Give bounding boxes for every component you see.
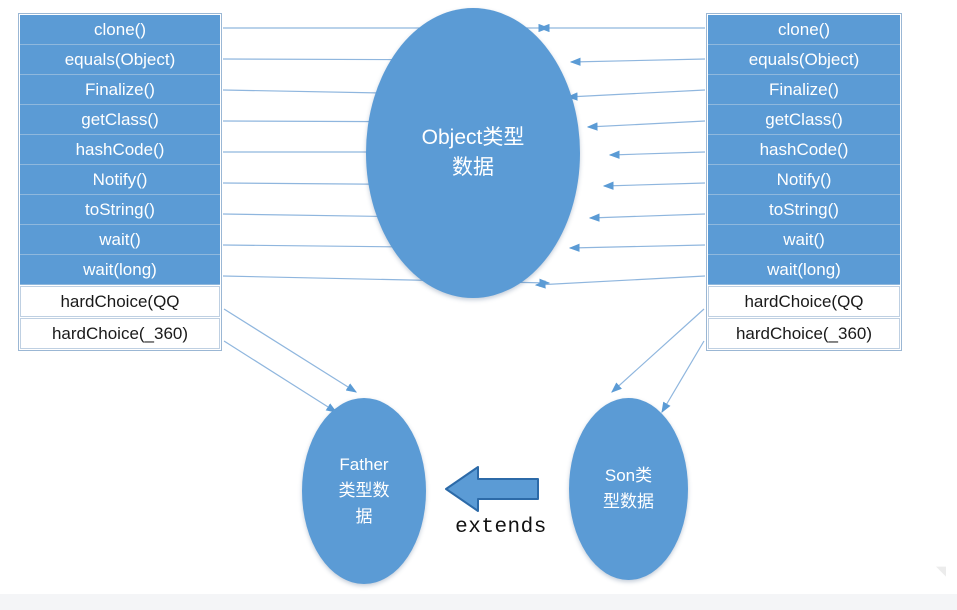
node-father-label-line3: 据 xyxy=(356,504,373,530)
method-row[interactable]: Finalize() xyxy=(20,75,220,105)
bottom-band xyxy=(0,594,957,610)
node-son-label-line1: Son类 xyxy=(605,463,652,489)
node-object-label-line2: 数据 xyxy=(452,153,494,183)
method-row[interactable]: clone() xyxy=(708,15,900,45)
method-row[interactable]: hardChoice(_360) xyxy=(20,318,220,349)
method-row[interactable]: equals(Object) xyxy=(708,45,900,75)
method-row[interactable]: equals(Object) xyxy=(20,45,220,75)
right-method-table: clone() equals(Object) Finalize() getCla… xyxy=(706,13,902,351)
method-row[interactable]: clone() xyxy=(20,15,220,45)
left-method-table: clone() equals(Object) Finalize() getCla… xyxy=(18,13,222,351)
node-object-label-line1: Object类型 xyxy=(422,123,525,153)
method-row[interactable]: hashCode() xyxy=(20,135,220,165)
node-son-label-line2: 型数据 xyxy=(603,489,654,515)
node-son-ellipse[interactable]: Son类 型数据 xyxy=(569,398,688,580)
diagram-canvas: clone() equals(Object) Finalize() getCla… xyxy=(0,0,957,610)
method-row[interactable]: hashCode() xyxy=(708,135,900,165)
node-father-ellipse[interactable]: Father 类型数 据 xyxy=(302,398,426,584)
method-row[interactable]: wait() xyxy=(20,225,220,255)
method-row[interactable]: wait() xyxy=(708,225,900,255)
method-row[interactable]: wait(long) xyxy=(708,255,900,285)
method-row[interactable]: hardChoice(QQ xyxy=(708,286,900,317)
method-row[interactable]: Finalize() xyxy=(708,75,900,105)
method-row[interactable]: hardChoice(QQ xyxy=(20,286,220,317)
method-row[interactable]: getClass() xyxy=(20,105,220,135)
node-father-label-line2: 类型数 xyxy=(339,478,390,504)
cursor-artifact: ◥ xyxy=(936,562,946,580)
method-row[interactable]: toString() xyxy=(20,195,220,225)
method-row[interactable]: Notify() xyxy=(20,165,220,195)
method-row[interactable]: toString() xyxy=(708,195,900,225)
left-block-arrow-icon xyxy=(444,462,540,516)
method-row[interactable]: wait(long) xyxy=(20,255,220,285)
node-object-ellipse[interactable]: Object类型 数据 xyxy=(366,8,580,298)
method-row[interactable]: Notify() xyxy=(708,165,900,195)
method-row[interactable]: hardChoice(_360) xyxy=(708,318,900,349)
method-row[interactable]: getClass() xyxy=(708,105,900,135)
node-father-label-line1: Father xyxy=(339,452,388,478)
extends-relation-label: extends xyxy=(440,516,562,539)
